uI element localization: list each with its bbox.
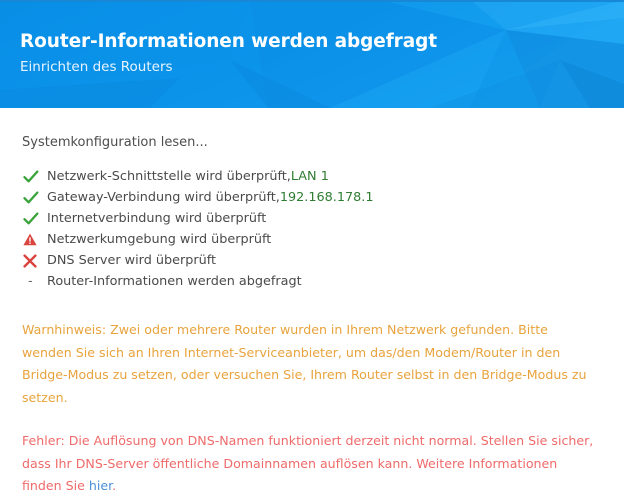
error-cross-icon <box>23 250 47 271</box>
header-text-group: Router-Informationen werden abgefragt Ei… <box>20 30 437 77</box>
error-message-tail: . <box>112 478 116 493</box>
header-top-rule <box>0 0 624 2</box>
status-row: Netzwerk-Schnittstelle wird überprüft, L… <box>23 166 604 187</box>
error-message: Fehler: Die Auflösung von DNS-Namen funk… <box>22 430 600 498</box>
page-content: Systemkonfiguration lesen... Netzwerk-Sc… <box>0 134 624 498</box>
status-row: Netzwerkumgebung wird überprüft <box>23 229 604 250</box>
status-label: Netzwerkumgebung wird überprüft <box>47 229 271 250</box>
more-info-link[interactable]: hier <box>89 478 112 493</box>
check-icon <box>23 187 47 208</box>
warning-triangle-icon <box>23 229 47 250</box>
pending-dash-icon: - <box>23 271 47 292</box>
status-label: Internetverbindung wird überprüft <box>47 208 266 229</box>
status-row: DNS Server wird überprüft <box>23 250 604 271</box>
status-row: Internetverbindung wird überprüft <box>23 208 604 229</box>
status-row: -Router-Informationen werden abgefragt <box>23 271 604 292</box>
page-title: Router-Informationen werden abgefragt <box>20 30 437 54</box>
status-label: Gateway-Verbindung wird überprüft, <box>47 187 280 208</box>
status-label: Router-Informationen werden abgefragt <box>47 271 302 292</box>
status-heading: Systemkonfiguration lesen... <box>22 134 604 152</box>
status-label: Netzwerk-Schnittstelle wird überprüft, <box>47 166 291 187</box>
status-row: Gateway-Verbindung wird überprüft, 192.1… <box>23 187 604 208</box>
router-setup-wizard: Router-Informationen werden abgefragt Ei… <box>0 0 624 467</box>
check-icon <box>23 166 47 187</box>
status-label: DNS Server wird überprüft <box>47 250 216 271</box>
page-subtitle: Einrichten des Routers <box>20 57 437 77</box>
status-value: LAN 1 <box>291 166 329 187</box>
status-value: 192.168.178.1 <box>280 187 374 208</box>
status-step-list: Netzwerk-Schnittstelle wird überprüft, L… <box>23 166 604 292</box>
check-icon <box>23 208 47 229</box>
warning-message: Warnhinweis: Zwei oder mehrere Router wu… <box>22 319 600 409</box>
page-header: Router-Informationen werden abgefragt Ei… <box>0 0 624 108</box>
